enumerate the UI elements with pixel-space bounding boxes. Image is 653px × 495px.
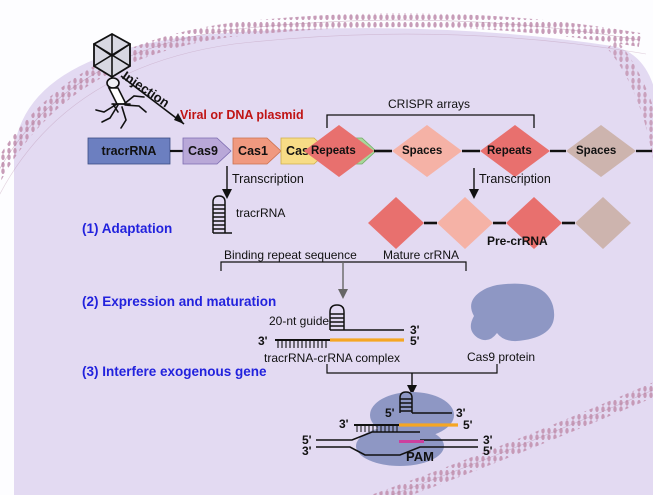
target-upper-three: 3' (339, 417, 349, 431)
step-label-interfere: (3) Interfere exogenous gene (82, 364, 267, 379)
pam-label: PAM (406, 450, 434, 463)
target-left-three: 3' (302, 444, 312, 458)
step-label-adaptation: (1) Adaptation (82, 221, 172, 236)
target-right-five: 5' (483, 444, 493, 458)
target-dna-complex (0, 0, 653, 495)
crispr-diagram-figure: Injection Viral or DNA plasmid tracrRNA … (0, 0, 653, 495)
target-rna-five-prime: 5' (385, 406, 395, 420)
target-upper-right-five: 5' (463, 418, 473, 432)
step-label-expression: (2) Expression and maturation (82, 294, 276, 309)
